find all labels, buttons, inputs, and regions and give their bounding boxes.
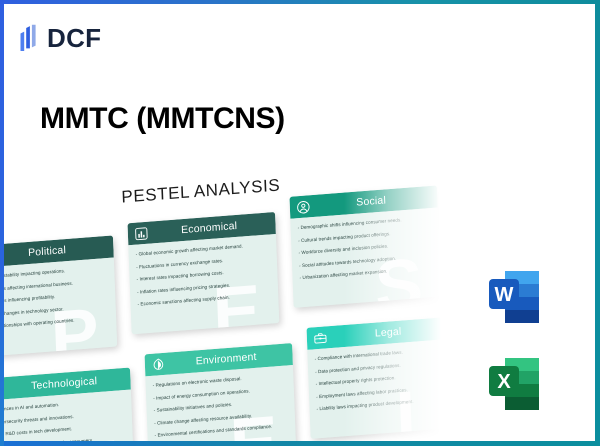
card-body-political: P - Government stability impacting opera…: [0, 257, 117, 357]
card-bullet: - Fluctuations in currency exchange rate…: [136, 254, 270, 269]
page-root: DCF MMTC (MMTCNS) PESTEL ANALYSIS Politi…: [0, 0, 600, 446]
page-border-right: [595, 0, 600, 446]
bar-chart-icon: [134, 225, 150, 241]
card-bullet: - Cultural trends impacting product offe…: [298, 228, 432, 243]
card-body-environment: E - Regulations on electronic waste disp…: [145, 365, 296, 446]
word-letter: W: [495, 284, 514, 306]
card-bullet: - Environmental certifications and stand…: [155, 423, 289, 438]
card-body-technological: T - Advances in AI and automation. - Cyb…: [0, 390, 134, 446]
leaf-icon: [151, 356, 167, 372]
brand-name: DCF: [47, 25, 101, 51]
card-bullet: - Demographic shifts influencing consume…: [298, 215, 432, 230]
card-bullet: - Regulations on electronic waste dispos…: [153, 373, 287, 388]
card-bullet: - Liability laws impacting product devel…: [317, 396, 451, 411]
microsoft-word-icon[interactable]: W: [483, 265, 547, 334]
card-bullet: - Compliance with international trade la…: [315, 346, 449, 361]
user-circle-icon: [296, 199, 312, 215]
card-body-economical: E - Global economic growth affecting mar…: [128, 234, 279, 334]
pestel-analysis-graphic[interactable]: PESTEL ANALYSIS Political P - Government…: [0, 176, 454, 446]
card-bullet: - Social attitudes towards technology ad…: [299, 253, 433, 268]
pestel-card-political[interactable]: Political P - Government stability impac…: [0, 235, 117, 357]
card-bullet: - Climate change affecting resource avai…: [154, 410, 288, 425]
card-bullet: - Impact of energy consumption on operat…: [153, 385, 287, 400]
pestel-card-social[interactable]: Social S - Demographic shifts influencin…: [289, 185, 441, 307]
briefcase-icon: [313, 330, 329, 346]
pestel-card-legal[interactable]: Legal L - Compliance with international …: [306, 317, 454, 439]
excel-letter: X: [497, 371, 511, 393]
page-border-top: [0, 0, 600, 4]
card-bullet: - Interest rates impacting borrowing cos…: [137, 267, 271, 282]
card-bullet: - Economic sanctions affecting supply ch…: [137, 292, 271, 307]
pestel-card-economical[interactable]: Economical E - Global economic growth af…: [127, 212, 279, 334]
card-body-legal: L - Compliance with international trade …: [307, 339, 454, 439]
brand-logo[interactable]: DCF: [19, 24, 101, 52]
card-bullet: - Speed of technological adoption by con…: [0, 435, 126, 446]
card-bullet: - Political relationships with operating…: [0, 315, 109, 330]
pestel-graphic-inner: PESTEL ANALYSIS Political P - Government…: [0, 176, 454, 446]
pestel-card-technological[interactable]: Technological T - Advances in AI and aut…: [0, 368, 134, 446]
card-bullet: - Global economic growth affecting marke…: [136, 241, 270, 256]
microsoft-excel-icon[interactable]: X: [483, 352, 547, 421]
card-body-social: S - Demographic shifts influencing consu…: [290, 207, 441, 307]
card-bullet: - Intellectual property rights protectio…: [316, 371, 450, 386]
card-bullet: - Inflation rates influencing pricing st…: [137, 279, 271, 294]
card-bullet: - Workforce diversity and inclusion poli…: [299, 240, 433, 255]
card-bullet: - Sustainability initiatives and policie…: [154, 398, 288, 413]
dcf-bars-logo-icon: [19, 24, 40, 52]
pestel-heading: PESTEL ANALYSIS: [121, 176, 281, 208]
card-bullet: - Employment laws affecting labor practi…: [316, 384, 450, 399]
pestel-card-environment[interactable]: Environment E - Regulations on electroni…: [145, 343, 297, 446]
page-title: MMTC (MMTCNS): [40, 102, 285, 136]
card-bullet: - Urbanization affecting market expansio…: [299, 265, 433, 280]
card-bullet: - Data protection and privacy regulation…: [315, 359, 449, 374]
